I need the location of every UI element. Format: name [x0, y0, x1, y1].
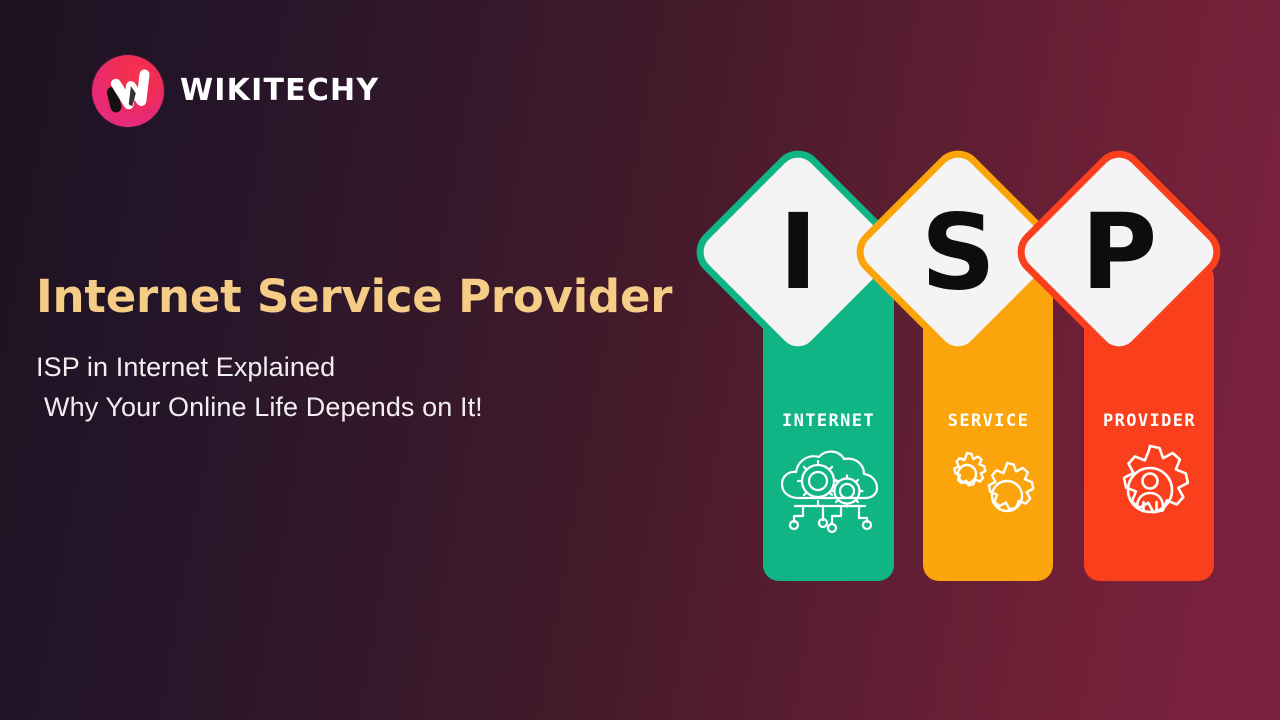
- pillar-internet: I INTERNET: [722, 176, 866, 581]
- hero-subtitle: ISP in Internet Explained Why Your Onlin…: [36, 348, 736, 426]
- two-gears-icon: [923, 444, 1054, 539]
- pillar-internet-caption: INTERNET: [763, 411, 894, 431]
- pillar-service: S SERVICE: [882, 176, 1026, 581]
- hero-copy: Internet Service Provider ISP in Interne…: [36, 272, 736, 427]
- brand-name: WIKITECHY: [180, 76, 379, 106]
- gear-person-icon: [1084, 444, 1215, 543]
- pillar-service-caption: SERVICE: [923, 411, 1054, 431]
- pillar-provider-caption: PROVIDER: [1084, 411, 1215, 431]
- pillar-provider-letter: P: [1081, 200, 1157, 304]
- pillar-internet-letter: I: [779, 200, 818, 304]
- page-title: Internet Service Provider: [36, 272, 736, 322]
- wikitechy-w-logo-icon: [92, 55, 164, 127]
- brand-logo[interactable]: WIKITECHY: [92, 55, 379, 127]
- subtitle-line-2: Why Your Online Life Depends on It!: [36, 388, 736, 427]
- pillar-provider: P PROVIDER: [1043, 176, 1187, 581]
- subtitle-line-1: ISP in Internet Explained: [36, 348, 736, 387]
- isp-acronym-graphic: I INTERNET: [722, 176, 1262, 581]
- cloud-gears-network-icon: [763, 444, 894, 539]
- pillar-service-letter: S: [921, 200, 996, 304]
